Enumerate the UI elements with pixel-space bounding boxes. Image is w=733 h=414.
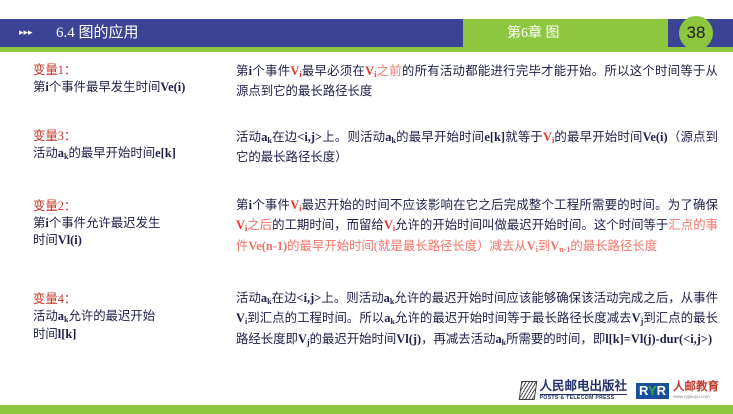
brand-text: 人邮教育 www.ryjiaoyu.com: [673, 382, 719, 399]
book-icon: [518, 381, 537, 400]
brand-mark-icon: RYR: [636, 383, 669, 399]
variable-1-line-1: 第i个事件最早发生时间Ve(i): [33, 80, 185, 94]
header-green-band: [463, 19, 668, 47]
footer-green-bar: [0, 405, 733, 414]
slide-root: ▸▸▸ 6.4 图的应用 第6章 图 38 变量1： 第i个事件最早发生时间Ve…: [0, 0, 733, 414]
publisher-name-en: POSTS & TELECOM PRESS: [540, 394, 628, 401]
brand-url: www.ryjiaoyu.com: [673, 395, 719, 400]
variable-2-definition: 变量2： 第i个事件允许最迟发生 时间Vl(i): [33, 198, 160, 249]
variable-1-definition: 变量1： 第i个事件最早发生时间Ve(i): [33, 62, 185, 96]
variable-3-definition: 变量3： 活动ak的最早开始时间e[k]: [33, 128, 176, 163]
variable-2-description: 第i个事件Vi最迟开始的时间不应该影响在它之后完成整个工程所需要的时间。为了确保…: [236, 196, 718, 257]
variable-4-definition: 变量4： 活动ak允许的最迟开始 时间l[k]: [33, 291, 155, 343]
variable-2-line-1: 第i个事件允许最迟发生: [33, 216, 160, 230]
variable-4-description: 活动ak在边<i,j>上。则活动ak允许的最迟开始时间应该能够确保该活动完成之后…: [236, 289, 718, 350]
brand-name-cn: 人邮教育: [673, 382, 719, 394]
publisher-name-cn: 人民邮电出版社: [540, 380, 628, 393]
variable-1-description: 第i个事件Vi最早必须在Vi之前的所有活动都能进行完毕才能开始。所以这个时间等于…: [236, 62, 718, 101]
publisher-text: 人民邮电出版社 POSTS & TELECOM PRESS: [540, 380, 628, 401]
variable-3-description: 活动ak在边<i,j>上。则活动ak的最早开始时间e[k]就等于Vi的最早开始时…: [236, 128, 718, 167]
header-underline: [0, 47, 733, 52]
triple-arrow-icon: ▸▸▸: [19, 24, 33, 42]
page-title: 6.4 图的应用: [56, 22, 139, 44]
brand-logo: RYR 人邮教育 www.ryjiaoyu.com: [636, 382, 719, 399]
page-number-badge: 38: [679, 16, 713, 50]
footer-logos: 人民邮电出版社 POSTS & TELECOM PRESS RYR 人邮教育 w…: [520, 380, 719, 401]
variable-4-line-2: 时间l[k]: [33, 327, 76, 341]
variable-2-line-2: 时间Vl(i): [33, 233, 82, 247]
slide-header: ▸▸▸ 6.4 图的应用 第6章 图: [0, 19, 733, 47]
publisher-logo: 人民邮电出版社 POSTS & TELECOM PRESS: [520, 380, 628, 401]
chapter-label: 第6章 图: [507, 23, 560, 44]
variable-4-line-1: 活动ak允许的最迟开始: [33, 309, 155, 323]
variable-1-label: 变量1：: [33, 62, 185, 79]
variable-3-label: 变量3：: [33, 128, 176, 145]
variable-4-label: 变量4：: [33, 291, 155, 308]
variable-2-label: 变量2：: [33, 198, 160, 215]
variable-3-line-1: 活动ak的最早开始时间e[k]: [33, 146, 176, 160]
